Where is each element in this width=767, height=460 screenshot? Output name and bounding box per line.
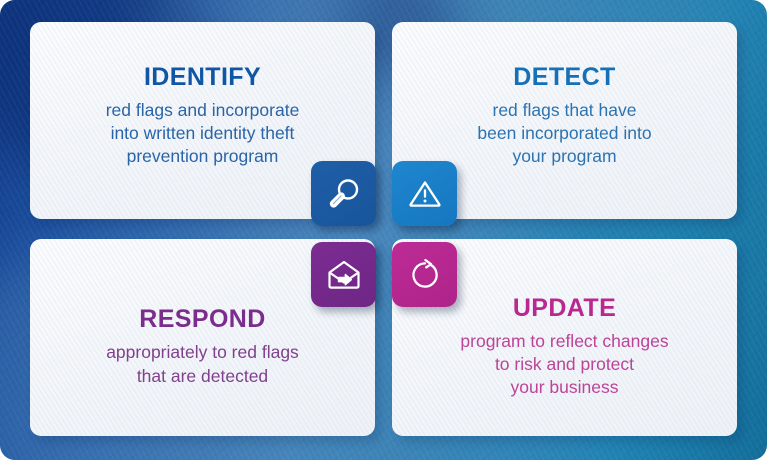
card-update-body: program to reflect changes to risk and p… xyxy=(460,330,668,400)
card-respond-body: appropriately to red flags that are dete… xyxy=(106,341,299,388)
icon-tile-update xyxy=(392,242,457,307)
card-respond-title: RESPOND xyxy=(106,307,299,332)
card-identify-body: red flags and incorporate into written i… xyxy=(106,99,300,169)
card-detect-title: DETECT xyxy=(477,65,651,90)
refresh-circular-arrow-icon xyxy=(406,256,444,294)
magnifier-icon xyxy=(325,175,363,213)
infographic-stage: IDENTIFY red flags and incorporate into … xyxy=(0,0,767,460)
open-envelope-arrow-icon xyxy=(324,256,364,294)
card-detect-body: red flags that have been incorporated in… xyxy=(477,99,651,169)
warning-triangle-icon xyxy=(406,175,444,213)
icon-cluster xyxy=(311,161,457,307)
icon-tile-respond xyxy=(311,242,376,307)
icon-tile-detect xyxy=(392,161,457,226)
card-update-title: UPDATE xyxy=(460,296,668,321)
card-identify-title: IDENTIFY xyxy=(106,65,300,90)
icon-tile-identify xyxy=(311,161,376,226)
